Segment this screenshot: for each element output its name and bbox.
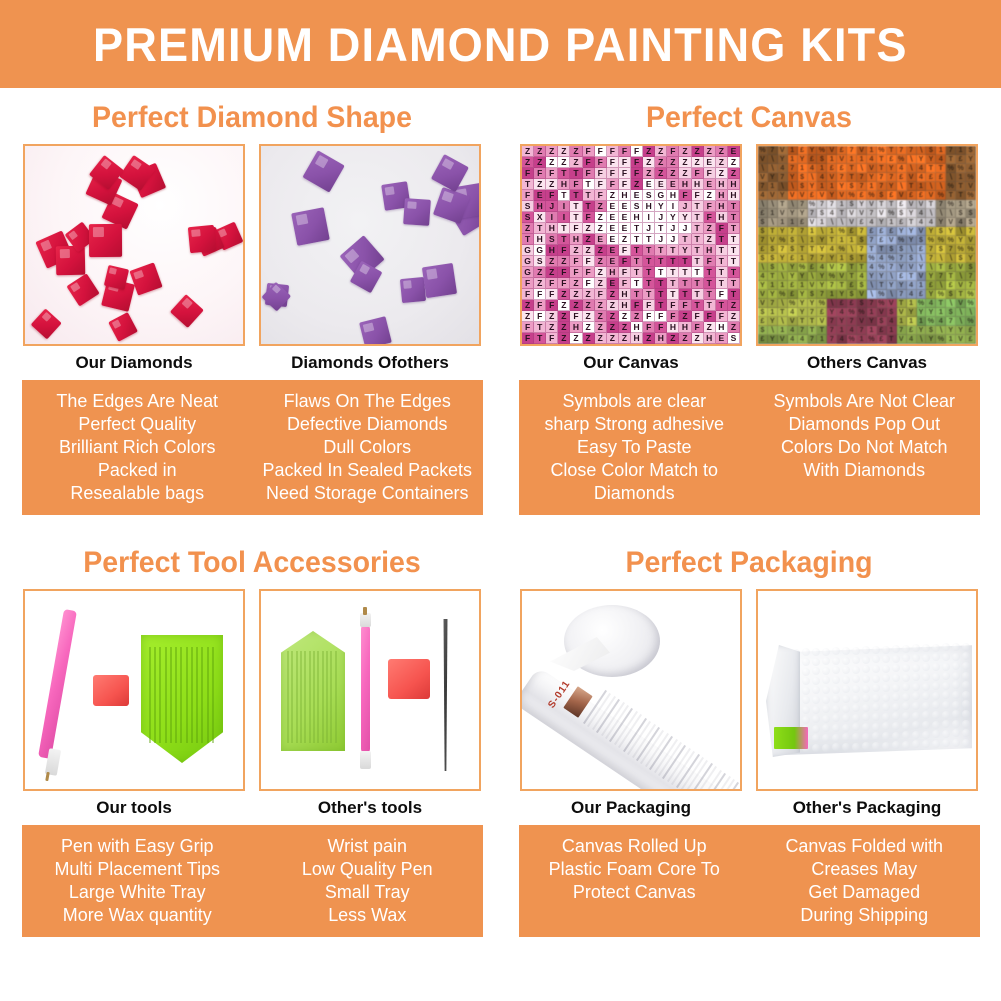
canvas-blur-cell: ∖	[946, 173, 956, 182]
canvas-blur-cell: 1	[798, 164, 808, 173]
canvas-blur-cell: $	[887, 245, 897, 254]
feature-list-theirs: Wrist painLow Quality PenSmall TrayLess …	[255, 834, 479, 926]
canvas-blur-cell: V	[778, 146, 788, 155]
canvas-blur-cell: 4	[917, 173, 927, 182]
canvas-blur-cell: Y	[946, 227, 956, 236]
diamond-drill	[422, 262, 458, 298]
canvas-symbol-cell: T	[692, 201, 704, 212]
canvas-blur-cell: ∖	[768, 218, 778, 227]
canvas-symbol-cell: T	[716, 278, 728, 289]
canvas-blur-cell: £	[946, 281, 956, 290]
canvas-blur-cell: 4	[917, 209, 927, 218]
canvas-blur-cell: ∖	[936, 182, 946, 191]
canvas-blur-cell: Y	[926, 227, 936, 236]
bubble	[802, 716, 810, 724]
canvas-blur-cell: £	[887, 155, 897, 164]
canvas-blur-cell: V	[867, 200, 877, 209]
canvas-symbol-cell: Z	[704, 190, 716, 201]
bubble	[872, 675, 880, 683]
bubble	[892, 684, 900, 692]
canvas-blur-cell: 7	[827, 335, 837, 344]
canvas-blur-cell: £	[897, 200, 907, 209]
canvas-blur-cell: 1	[817, 182, 827, 191]
diamond-drill	[188, 225, 217, 254]
canvas-blur-cell: V	[926, 191, 936, 200]
feature-list-ours: Symbols are clearsharp Strong adhesiveEa…	[522, 389, 746, 504]
bubble	[942, 691, 950, 699]
canvas-blur-cell: 7	[936, 200, 946, 209]
canvas-blur-cell: $	[768, 263, 778, 272]
canvas-symbol-cell: T	[728, 245, 740, 256]
canvas-blur-cell: £	[798, 146, 808, 155]
canvas-blur-cell: £	[966, 335, 976, 344]
canvas-blur-cell: T	[907, 182, 917, 191]
canvas-symbol-cell: T	[583, 201, 595, 212]
bubble	[962, 700, 970, 708]
canvas-symbol-cell: Z	[522, 146, 534, 157]
canvas-blur-cell: V	[808, 281, 818, 290]
canvas-blur-cell: 7	[887, 173, 897, 182]
bubble	[962, 652, 970, 660]
canvas-blur-cell: $	[758, 254, 768, 263]
canvas-blur-cell: Y	[778, 191, 788, 200]
canvas-blur-cell: %	[758, 146, 768, 155]
canvas-blur-cell: V	[788, 317, 798, 326]
canvas-symbol-cell: Z	[728, 157, 740, 168]
canvas-symbol-cell: T	[631, 289, 643, 300]
canvas-symbol-cell: F	[631, 157, 643, 168]
canvas-blur-cell: %	[778, 236, 788, 245]
canvas-symbol-cell: F	[619, 146, 631, 157]
canvas-symbol-cell: Z	[534, 278, 546, 289]
canvas-symbol-cell: F	[655, 322, 667, 333]
bubble	[832, 657, 840, 665]
bubble	[952, 672, 960, 680]
canvas-symbol-cell: F	[692, 322, 704, 333]
canvas-symbol-grid: ZZZZZFFFFFZZFZZZZEZZZZZFFFFFZZZZZEZZFFFT…	[522, 146, 740, 344]
canvas-blur-cell: Y	[798, 299, 808, 308]
canvas-symbol-cell: G	[522, 267, 534, 278]
canvas-blur-cell: 1	[857, 335, 867, 344]
canvas-blur-cell: T	[808, 317, 818, 326]
feature-line: Need Storage Containers	[255, 481, 479, 504]
canvas-blur-cell: 7	[798, 227, 808, 236]
bubble	[932, 644, 940, 652]
bubble	[942, 701, 950, 709]
bubble	[822, 724, 830, 732]
canvas-symbol-cell: J	[655, 212, 667, 223]
canvas-blur-cell: ∖	[946, 299, 956, 308]
feature-line: Colors Do Not Match	[752, 435, 976, 458]
canvas-blur-cell: 4	[907, 335, 917, 344]
canvas-symbol-cell: Z	[716, 168, 728, 179]
bubble	[942, 643, 950, 651]
feature-list-ours: The Edges Are NeatPerfect QualityBrillia…	[25, 389, 249, 504]
bubble	[872, 684, 880, 692]
canvas-blur-cell: T	[877, 200, 887, 209]
bubble	[932, 653, 940, 661]
canvas-blur-cell: V	[778, 209, 788, 218]
canvas-blur-cell: %	[936, 191, 946, 200]
canvas-symbol-cell: Z	[583, 234, 595, 245]
bubble	[892, 693, 900, 701]
bubble	[862, 723, 870, 731]
feature-line: Easy To Paste	[522, 435, 746, 458]
canvas-blur-cell: $	[857, 236, 867, 245]
canvas-symbol-cell: Z	[570, 157, 582, 168]
canvas-blur-cell: %	[956, 164, 966, 173]
canvas-symbol-cell: E	[607, 245, 619, 256]
canvas-symbol-cell: E	[728, 146, 740, 157]
bubble	[842, 685, 850, 693]
caption-other-diamonds: Diamonds Ofothers	[259, 353, 481, 373]
canvas-blur-cell: %	[867, 254, 877, 263]
canvas-blur-cell: 1	[867, 182, 877, 191]
caption-other-packaging: Other's Packaging	[756, 798, 978, 818]
feature-line: Diamonds	[522, 481, 746, 504]
bubble	[882, 732, 890, 740]
canvas-blur-cell: $	[847, 182, 857, 191]
canvas-blur-cell: ∖	[778, 272, 788, 281]
canvas-blur-cell: $	[877, 191, 887, 200]
canvas-symbol-cell: F	[546, 300, 558, 311]
canvas-symbol-cell: H	[619, 190, 631, 201]
canvas-symbol-cell: T	[728, 223, 740, 234]
canvas-blur-cell: $	[808, 290, 818, 299]
canvas-blur-cell: 1	[778, 326, 788, 335]
canvas-blur-cell: ∖	[867, 281, 877, 290]
canvas-symbol-cell: Z	[607, 190, 619, 201]
canvas-blur-cell: T	[877, 155, 887, 164]
diamond-drill	[403, 198, 431, 226]
canvas-blur-cell: V	[907, 173, 917, 182]
canvas-symbol-cell: E	[704, 157, 716, 168]
photo-others-canvas: %7V1£Y%V£7V1%T77∖$171$V∖Y1Y£$1V114T£%∖YY…	[756, 144, 978, 346]
canvas-symbol-cell: Z	[583, 289, 595, 300]
feature-line: Creases May	[752, 857, 976, 880]
bubble	[852, 695, 860, 703]
canvas-blur-cell: 1	[907, 299, 917, 308]
bubble	[842, 714, 850, 722]
canvas-blur-cell: 1	[768, 209, 778, 218]
bubble	[842, 695, 850, 703]
canvas-blur-cell: 4	[966, 164, 976, 173]
bubble	[852, 704, 860, 712]
bubble	[822, 676, 830, 684]
bubble	[892, 722, 900, 730]
canvas-symbol-cell: J	[667, 223, 679, 234]
bubble	[812, 744, 820, 752]
canvas-blur-cell: 4	[847, 326, 857, 335]
canvas-blur-cell: 4	[788, 308, 798, 317]
bubble	[802, 706, 810, 714]
canvas-blur-cell: 1	[778, 281, 788, 290]
bubble	[892, 655, 900, 663]
feature-line: Flaws On The Edges	[255, 389, 479, 412]
canvas-symbol-cell: T	[667, 245, 679, 256]
tray-rib	[291, 651, 293, 743]
canvas-blur-cell: £	[917, 290, 927, 299]
canvas-blur-cell: ∖	[867, 290, 877, 299]
tray-rib	[175, 647, 177, 743]
bubble	[822, 705, 830, 713]
canvas-blur-cell: 7	[857, 227, 867, 236]
canvas-symbol-cell: F	[595, 289, 607, 300]
canvas-symbol-cell: T	[570, 212, 582, 223]
canvas-blur-cell: %	[966, 290, 976, 299]
bubble	[932, 701, 940, 709]
canvas-blur-cell: Y	[926, 308, 936, 317]
canvas-blur-cell: V	[917, 200, 927, 209]
canvas-blur-cell: 1	[798, 254, 808, 263]
canvas-symbol-cell: F	[619, 179, 631, 190]
canvas-blur-cell: 1	[837, 326, 847, 335]
canvas-blur-cell: Y	[808, 146, 818, 155]
tray-rib	[186, 647, 188, 743]
canvas-symbol-cell: F	[558, 245, 570, 256]
canvas-symbol-cell: F	[595, 179, 607, 190]
canvas-blur-cell: 1	[768, 182, 778, 191]
canvas-blur-cell: $	[768, 245, 778, 254]
canvas-blur-cell: Y	[778, 254, 788, 263]
diamond-drill	[400, 277, 427, 304]
canvas-symbol-cell: Z	[522, 157, 534, 168]
feature-box-packaging: Canvas Rolled UpPlastic Foam Core ToProt…	[519, 825, 980, 937]
canvas-blur-cell: %	[817, 146, 827, 155]
canvas-blur-cell: 7	[788, 227, 798, 236]
canvas-blur-cell: 1	[827, 227, 837, 236]
canvas-blur-cell: 1	[917, 317, 927, 326]
canvas-blur-cell: V	[788, 191, 798, 200]
canvas-blur-cell: ∖	[758, 263, 768, 272]
canvas-symbol-cell: S	[643, 190, 655, 201]
section-title-packaging: Perfect Packaging	[516, 541, 982, 585]
canvas-symbol-cell: Z	[716, 157, 728, 168]
canvas-symbol-cell: Z	[546, 311, 558, 322]
canvas-symbol-cell: H	[692, 179, 704, 190]
canvas-symbol-cell: Z	[558, 322, 570, 333]
canvas-blur-cell: Y	[837, 290, 847, 299]
bubble	[892, 732, 900, 740]
canvas-blur-cell: T	[778, 308, 788, 317]
canvas-symbol-cell: J	[679, 223, 691, 234]
canvas-symbol-cell: F	[583, 146, 595, 157]
canvas-blur-cell: Y	[798, 308, 808, 317]
canvas-blur-cell: T	[936, 164, 946, 173]
canvas-symbol-cell: J	[679, 201, 691, 212]
canvas-symbol-cell: F	[595, 190, 607, 201]
canvas-symbol-cell: E	[534, 190, 546, 201]
tray-rib	[159, 647, 161, 743]
canvas-blur-cell: %	[847, 191, 857, 200]
canvas-blur-cell: £	[897, 173, 907, 182]
bubble	[922, 721, 930, 729]
bubble	[932, 730, 940, 738]
canvas-blur-cell: 7	[758, 182, 768, 191]
canvas-symbol-cell: Z	[595, 245, 607, 256]
bubble	[932, 740, 940, 748]
canvas-blur-cell: 7	[808, 254, 818, 263]
canvas-blur-cell: V	[966, 236, 976, 245]
canvas-blur-cell: £	[808, 155, 818, 164]
canvas-symbol-cell: Z	[595, 223, 607, 234]
tray-rib	[300, 651, 302, 743]
canvas-symbol-cell: F	[716, 311, 728, 322]
bubble	[832, 647, 840, 655]
canvas-symbol-cell: Z	[728, 322, 740, 333]
canvas-symbol-cell: Z	[558, 146, 570, 157]
canvas-blur-cell: T	[837, 281, 847, 290]
canvas-blur-cell: %	[877, 146, 887, 155]
canvas-symbol-cell: T	[692, 289, 704, 300]
canvas-blur-cell: Y	[808, 299, 818, 308]
canvas-blur-cell: %	[966, 245, 976, 254]
canvas-blur-cell: Y	[827, 308, 837, 317]
canvas-blur-cell: 1	[768, 281, 778, 290]
canvas-blur-cell: £	[946, 263, 956, 272]
canvas-blur-cell: 1	[857, 155, 867, 164]
canvas-blur-cell: T	[907, 272, 917, 281]
canvas-blur-cell: 1	[827, 155, 837, 164]
canvas-symbol-cell: F	[546, 333, 558, 344]
canvas-blur-cell: ∖	[936, 209, 946, 218]
canvas-blur-cell: 7	[966, 281, 976, 290]
canvas-symbol-cell: Z	[679, 311, 691, 322]
bubble	[902, 645, 910, 653]
canvas-blur-cell: ∖	[907, 245, 917, 254]
bubble	[962, 662, 970, 670]
canvas-blur-cell: 1	[917, 281, 927, 290]
canvas-symbol-cell: T	[558, 223, 570, 234]
canvas-symbol-cell: I	[643, 212, 655, 223]
canvas-blur-cell: ∖	[956, 227, 966, 236]
canvas-symbol-cell: Z	[570, 333, 582, 344]
section-packaging: Perfect Packaging S-011 Our Packaging	[504, 541, 994, 937]
canvas-symbol-cell: F	[534, 289, 546, 300]
canvas-blur-cell: %	[917, 299, 927, 308]
bubble	[832, 705, 840, 713]
photo-other-tools	[259, 589, 481, 791]
canvas-blur-cell: £	[877, 326, 887, 335]
bubble	[832, 676, 840, 684]
bubble	[892, 645, 900, 653]
canvas-blur-cell: Y	[887, 281, 897, 290]
canvas-symbol-cell: Z	[704, 223, 716, 234]
bubble	[932, 663, 940, 671]
photo-our-packaging: S-011	[520, 589, 742, 791]
canvas-blurry-grid: %7V1£Y%V£7V1%T77∖$171$V∖Y1Y£$1V114T£%∖YY…	[758, 146, 976, 344]
canvas-symbol-cell: F	[655, 311, 667, 322]
canvas-blur-cell: 7	[877, 182, 887, 191]
canvas-symbol-cell: Z	[716, 146, 728, 157]
canvas-symbol-cell: H	[546, 223, 558, 234]
canvas-symbol-cell: F	[619, 168, 631, 179]
bubble	[962, 720, 970, 728]
canvas-blur-cell: Y	[917, 308, 927, 317]
canvas-symbol-cell: F	[667, 311, 679, 322]
diamond-drill	[56, 245, 86, 275]
canvas-symbol-cell: T	[667, 278, 679, 289]
canvas-symbol-cell: Z	[583, 322, 595, 333]
canvas-symbol-cell: E	[607, 212, 619, 223]
canvas-blur-cell: ∖	[897, 182, 907, 191]
canvas-blur-cell: %	[837, 227, 847, 236]
canvas-blur-cell: $	[798, 173, 808, 182]
canvas-blur-cell: Y	[907, 227, 917, 236]
bubble	[942, 739, 950, 747]
bubble	[902, 654, 910, 662]
canvas-symbol-cell: Y	[655, 201, 667, 212]
bubble	[922, 644, 930, 652]
canvas-symbol-cell: H	[631, 333, 643, 344]
canvas-symbol-cell: F	[534, 311, 546, 322]
canvas-symbol-cell: T	[643, 245, 655, 256]
canvas-symbol-cell: F	[558, 267, 570, 278]
canvas-symbol-cell: F	[631, 146, 643, 157]
canvas-symbol-cell: F	[583, 278, 595, 289]
pen-nib-icon	[363, 607, 367, 615]
canvas-symbol-cell: Z	[583, 311, 595, 322]
canvas-symbol-cell: F	[546, 168, 558, 179]
canvas-symbol-cell: T	[570, 190, 582, 201]
canvas-blur-cell: ∖	[778, 299, 788, 308]
canvas-blur-cell: 1	[827, 182, 837, 191]
canvas-blur-cell: $	[847, 290, 857, 299]
canvas-blur-cell: Y	[788, 263, 798, 272]
canvas-blur-cell: T	[946, 272, 956, 281]
canvas-blur-cell: Y	[837, 317, 847, 326]
canvas-blur-cell: V	[758, 290, 768, 299]
canvas-blur-cell: ∖	[926, 182, 936, 191]
canvas-blur-cell: T	[877, 281, 887, 290]
bubble	[962, 672, 970, 680]
canvas-blur-cell: £	[758, 209, 768, 218]
canvas-blur-cell: £	[897, 272, 907, 281]
canvas-blur-cell: $	[966, 200, 976, 209]
canvas-blur-cell: %	[926, 317, 936, 326]
bubble	[912, 664, 920, 672]
caption-row-diamond-shape: Our Diamonds Diamonds Ofothers	[7, 353, 497, 373]
canvas-blur-cell: Y	[897, 281, 907, 290]
canvas-blur-cell: Y	[917, 326, 927, 335]
canvas-blur-cell: Y	[877, 272, 887, 281]
canvas-blur-cell: Y	[788, 272, 798, 281]
canvas-symbol-cell: Z	[546, 256, 558, 267]
canvas-blur-cell: V	[827, 146, 837, 155]
canvas-blur-cell: T	[847, 164, 857, 173]
bubble	[912, 654, 920, 662]
bubble	[832, 695, 840, 703]
feature-line: Brilliant Rich Colors	[25, 435, 249, 458]
bubble	[852, 666, 860, 674]
canvas-blur-cell: Y	[817, 245, 827, 254]
canvas-blur-cell: ∖	[808, 272, 818, 281]
bubble	[952, 653, 960, 661]
canvas-symbol-cell: Z	[522, 300, 534, 311]
canvas-blur-cell: 4	[827, 245, 837, 254]
canvas-blur-cell: T	[798, 317, 808, 326]
feature-line: Resealable bags	[25, 481, 249, 504]
canvas-symbol-cell: Z	[546, 179, 558, 190]
feature-line: Multi Placement Tips	[25, 857, 249, 880]
canvas-symbol-cell: Z	[728, 168, 740, 179]
bubble	[942, 663, 950, 671]
canvas-blur-cell: £	[758, 245, 768, 254]
caption-our-packaging: Our Packaging	[520, 798, 742, 818]
bubble	[922, 692, 930, 700]
canvas-blur-cell: V	[907, 200, 917, 209]
canvas-symbol-cell: E	[607, 256, 619, 267]
